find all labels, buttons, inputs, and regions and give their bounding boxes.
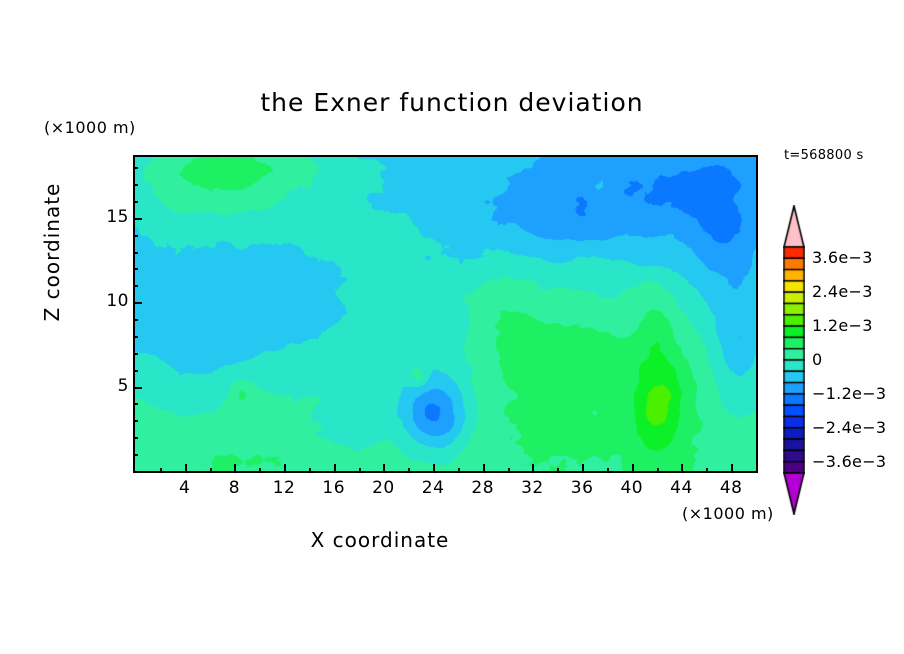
x-tick [210,468,212,473]
colorbar-tick-label: 3.6e−3 [812,248,873,267]
y-tick-label: 15 [93,207,129,227]
colorbar-gradient [783,205,805,515]
y-tick [133,252,138,254]
x-tick [259,468,261,473]
y-tick [133,387,142,389]
y-axis-title: Z coordinate [40,172,64,332]
x-tick [483,464,485,473]
colorbar-tick-label: −1.2e−3 [812,384,886,403]
y-tick [133,201,138,203]
x-tick [557,468,559,473]
contour-plot-area [133,155,758,473]
y-tick [133,454,138,456]
x-tick [234,464,236,473]
y-tick [133,184,138,186]
x-tick [160,468,162,473]
y-tick [133,336,138,338]
x-tick [334,464,336,473]
y-tick [133,167,138,169]
y-tick-label: 5 [93,376,129,396]
x-tick [731,464,733,473]
x-axis-title: X coordinate [0,528,760,552]
x-tick [433,464,435,473]
x-tick [309,468,311,473]
colorbar-tick-label: 0 [812,350,822,369]
y-tick [133,268,138,270]
figure-canvas: the Exner function deviation (×1000 m) t… [0,0,904,654]
y-tick [133,235,138,237]
y-axis-unit-label: (×1000 m) [44,118,136,137]
y-tick [133,319,138,321]
x-tick [706,468,708,473]
colorbar-tick-label: 2.4e−3 [812,282,873,301]
x-tick [657,468,659,473]
y-tick [133,302,142,304]
y-tick [133,403,138,405]
y-tick [133,218,142,220]
x-tick [632,464,634,473]
x-tick [582,464,584,473]
y-tick [133,420,138,422]
y-tick-label: 10 [93,291,129,311]
time-annotation: t=568800 s [784,148,864,163]
y-tick [133,353,138,355]
x-tick [408,468,410,473]
x-tick [458,468,460,473]
x-tick [359,468,361,473]
contour-field [135,157,756,471]
x-tick [532,464,534,473]
colorbar [783,205,805,515]
y-tick [133,285,138,287]
x-tick [681,464,683,473]
colorbar-tick-label: 1.2e−3 [812,316,873,335]
y-tick [133,370,138,372]
y-tick [133,437,138,439]
chart-title: the Exner function deviation [0,88,904,117]
x-tick [284,464,286,473]
x-axis-unit-label: (×1000 m) [682,504,774,523]
colorbar-tick-label: −2.4e−3 [812,418,886,437]
x-tick [607,468,609,473]
x-tick [383,464,385,473]
x-tick-label: 48 [701,478,761,498]
x-tick [508,468,510,473]
x-tick [185,464,187,473]
colorbar-tick-label: −3.6e−3 [812,452,886,471]
